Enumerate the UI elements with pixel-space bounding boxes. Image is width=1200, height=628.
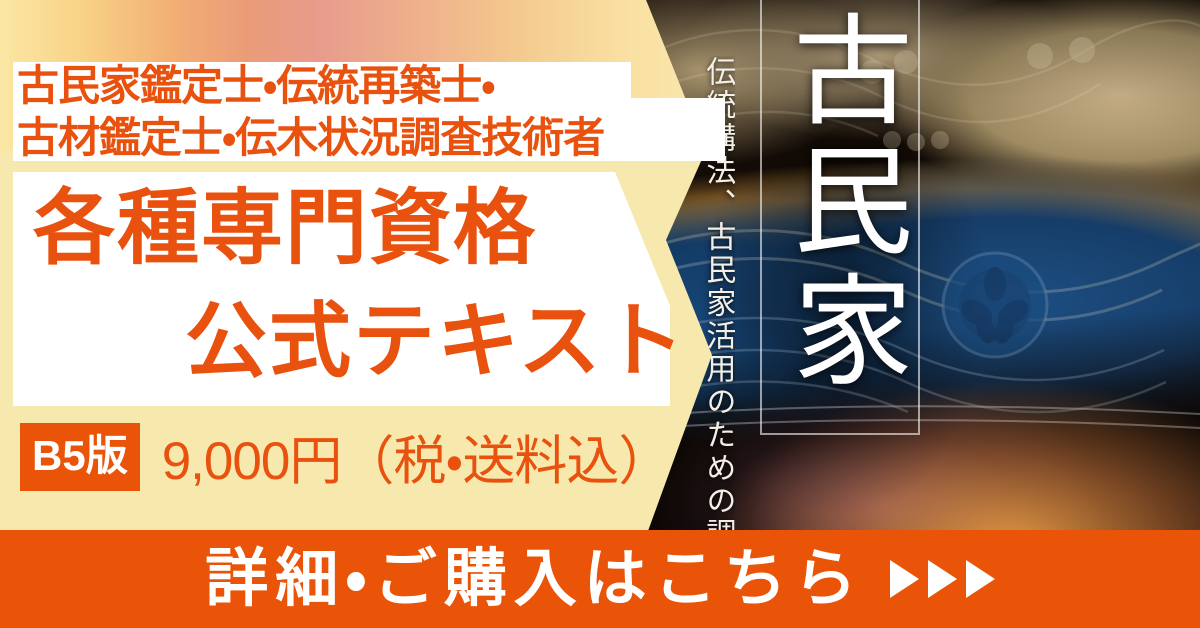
price-row: B5版 9,000円（税・送料込） (20, 421, 670, 493)
triangle-right-icon (890, 560, 919, 598)
heading-line-2: 公式テキスト (13, 285, 699, 398)
main-heading: 各種専門資格 公式テキスト (13, 172, 699, 406)
cta-bar[interactable]: 詳細・ご購入はこちら (0, 530, 1200, 628)
triangle-right-icon (966, 560, 995, 598)
triangle-right-icon (928, 560, 957, 598)
certifications-text: 古民家鑑定士・伝統再築士・ 古材鑑定士・伝木状況調査技術者 (17, 60, 717, 164)
cta-label: 詳細・ご購入はこちら (205, 548, 863, 611)
price-text: 9,000円（税・送料込） (162, 419, 671, 495)
heading-line-1: 各種専門資格 (13, 172, 699, 285)
certification-line-1: 古民家鑑定士・伝統再築士・ (17, 60, 717, 112)
book-cover-title: 古民家 (772, 8, 908, 398)
certification-line-2: 古材鑑定士・伝木状況調査技術者 (17, 112, 717, 164)
promotional-banner: 古民家 伝統構法、古民家活用のための調査と再生の 古民家鑑定士・伝統再築士・ 古… (0, 0, 1200, 628)
format-badge: B5版 (20, 423, 140, 491)
cta-arrows (890, 560, 995, 598)
